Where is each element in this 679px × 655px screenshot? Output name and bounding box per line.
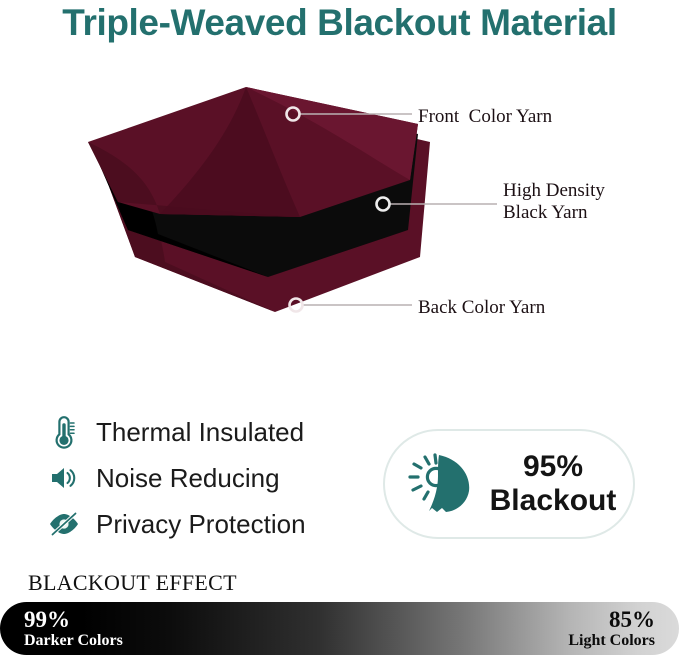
blackout-caption: Blackout (490, 484, 617, 517)
sun-curtain-icon (403, 445, 481, 523)
light-colors-percent: 85% (568, 608, 655, 632)
blackout-badge-text: 95% Blackout (481, 450, 633, 517)
gradient-bar-right-stat: 85% Light Colors (568, 608, 655, 651)
feature-label-thermal-insulated: Thermal Insulated (96, 417, 304, 448)
feature-label-noise-reducing: Noise Reducing (96, 463, 280, 494)
blackout-effect-title: BLACKOUT EFFECT (28, 570, 237, 596)
feature-item-thermal-insulated: Thermal Insulated (44, 409, 374, 455)
darker-colors-caption: Darker Colors (24, 632, 123, 650)
speaker-icon (44, 459, 84, 497)
blackout-badge: 95% Blackout (383, 429, 635, 539)
feature-list: Thermal Insulated Noise Reducing Privacy… (44, 409, 374, 547)
thermometer-icon (44, 413, 84, 451)
darker-colors-percent: 99% (24, 608, 123, 632)
eye-slash-icon (44, 505, 84, 543)
blackout-effect-gradient-bar: 99% Darker Colors 85% Light Colors (0, 602, 679, 655)
callout-label-high-density-black-yarn: High Density Black Yarn (503, 180, 605, 224)
callout-label-back-color-yarn: Back Color Yarn (418, 297, 545, 319)
feature-item-noise-reducing: Noise Reducing (44, 455, 374, 501)
gradient-bar-left-stat: 99% Darker Colors (24, 608, 123, 651)
feature-label-privacy-protection: Privacy Protection (96, 509, 306, 540)
blackout-percent: 95% (523, 450, 583, 483)
feature-item-privacy-protection: Privacy Protection (44, 501, 374, 547)
callout-label-front-color-yarn: Front Color Yarn (418, 106, 552, 128)
light-colors-caption: Light Colors (568, 632, 655, 650)
page-title: Triple-Weaved Blackout Material (0, 2, 679, 44)
